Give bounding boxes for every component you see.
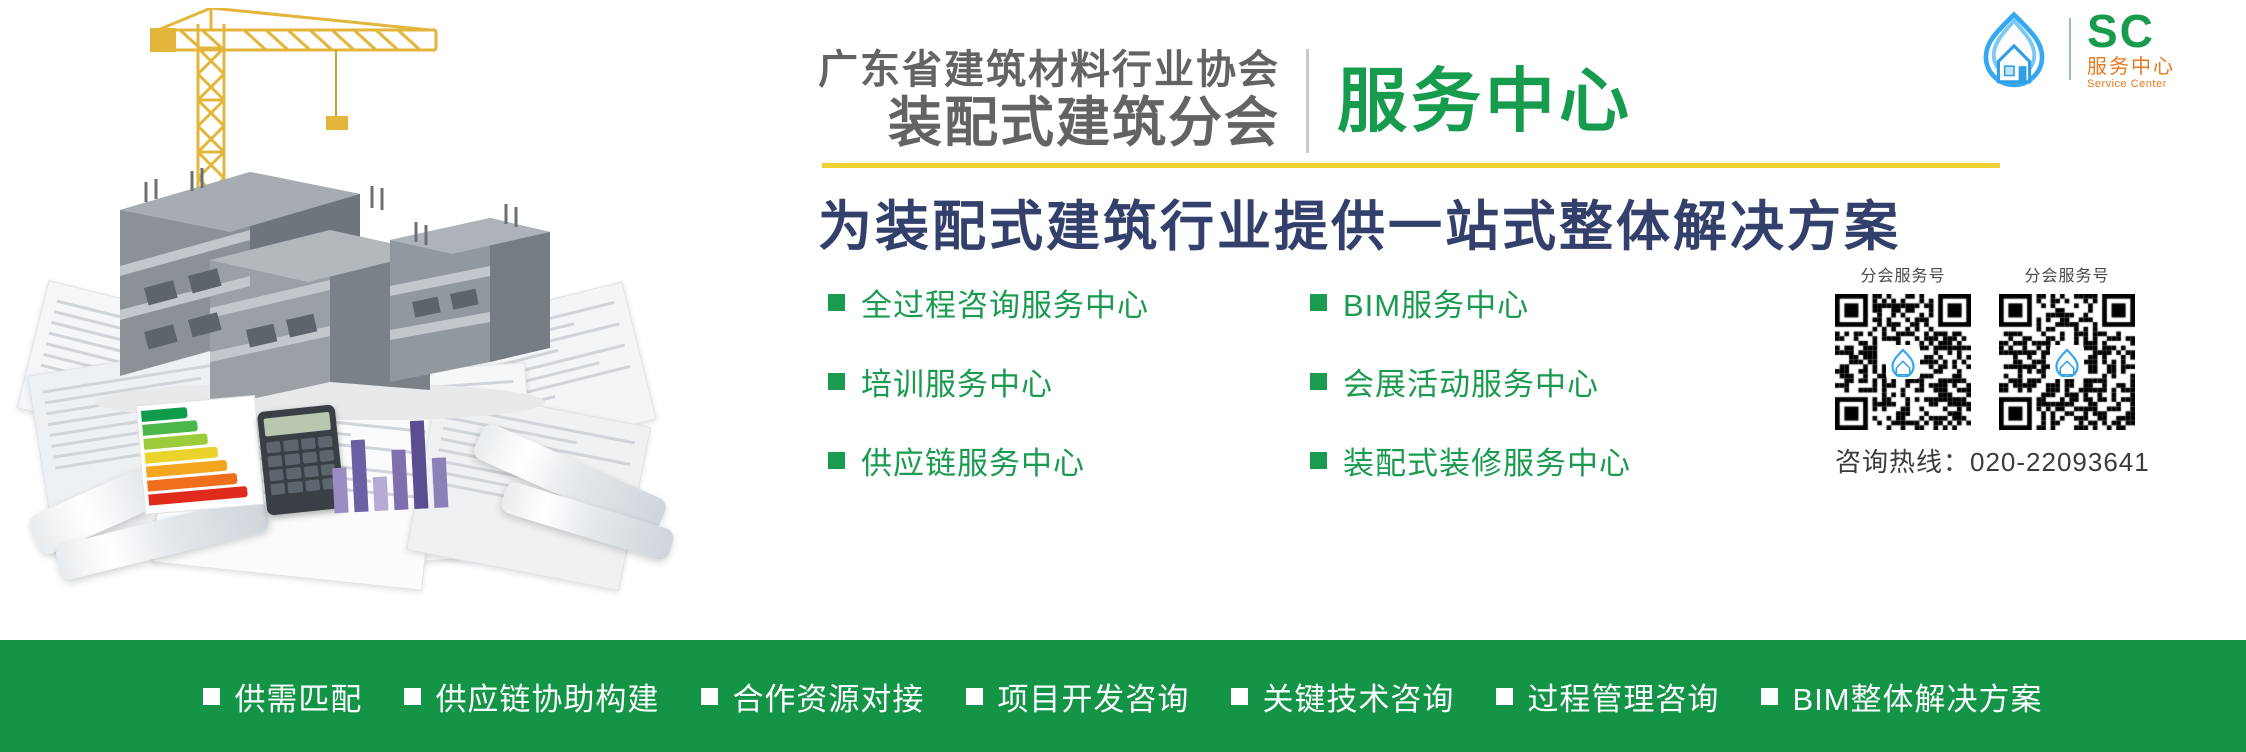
footer-label: 供需匹配 [234, 674, 362, 719]
page-title: 为装配式建筑行业提供一站式整体解决方案 [818, 182, 1901, 261]
sc-english-label: Service Center [2087, 79, 2175, 90]
qr-cell[interactable]: 分会服务号 [1999, 262, 2135, 430]
logo-divider [2069, 18, 2071, 80]
energy-rating-chart [135, 395, 264, 515]
service-label: 全过程咨询服务中心 [861, 280, 1149, 325]
qr-center-logo-icon [2050, 345, 2084, 379]
sc-service-center-logo: SC 服务中心 Service Center [1975, 8, 2175, 90]
list-item[interactable]: 会展活动服务中心 [1310, 355, 1710, 407]
footer-label: 合作资源对接 [732, 674, 924, 719]
footer-item[interactable]: 供应链协助构建 [404, 674, 659, 719]
precast-building-model-icon [60, 90, 580, 420]
service-center-list: 全过程咨询服务中心 培训服务中心 供应链服务中心 BIM服务中心 [710, 276, 1710, 513]
hotline-text: 咨询热线：020-22093641 [1835, 442, 2235, 479]
yellow-divider-rule [822, 163, 2000, 168]
square-bullet-icon [1310, 452, 1327, 469]
bar-chart-graphic [328, 412, 463, 514]
square-bullet-icon [1310, 294, 1327, 311]
list-item[interactable]: 供应链服务中心 [828, 434, 1228, 486]
list-item[interactable]: 装配式装修服务中心 [1310, 434, 1710, 486]
footer-item[interactable]: 过程管理咨询 [1496, 674, 1719, 719]
service-label: 培训服务中心 [861, 359, 1053, 404]
square-bullet-icon [1231, 688, 1248, 705]
association-name: 广东省建筑材料行业协会 [818, 48, 1280, 93]
square-bullet-icon [828, 452, 845, 469]
square-bullet-icon [404, 688, 421, 705]
square-bullet-icon [1761, 688, 1778, 705]
banner-content: SC 服务中心 Service Center 广东省建筑材料行业协会 装配式建筑… [700, 0, 2246, 640]
branch-name: 装配式建筑分会 [818, 93, 1280, 155]
organization-title-block: 广东省建筑材料行业协会 装配式建筑分会 服务中心 [818, 48, 1633, 154]
footer-item[interactable]: 关键技术咨询 [1231, 674, 1454, 719]
service-center-title: 服务中心 [1309, 66, 1633, 136]
square-bullet-icon [701, 688, 718, 705]
footer-label: 关键技术咨询 [1262, 674, 1454, 719]
qr-caption: 分会服务号 [1999, 262, 2135, 286]
footer-label: 项目开发咨询 [997, 674, 1189, 719]
qr-contact-block: 分会服务号 分会服务号 [1835, 262, 2235, 479]
qr-code-image[interactable] [1999, 294, 2135, 430]
service-label: 装配式装修服务中心 [1343, 438, 1631, 483]
service-label: 会展活动服务中心 [1343, 359, 1599, 404]
footer-item[interactable]: 合作资源对接 [701, 674, 924, 719]
square-bullet-icon [828, 294, 845, 311]
list-item[interactable]: 培训服务中心 [828, 355, 1228, 407]
footer-label: BIM整体解决方案 [1792, 674, 2042, 719]
flame-house-icon [1975, 10, 2053, 88]
qr-caption: 分会服务号 [1835, 262, 1971, 286]
hero-illustration [0, 0, 700, 640]
promotional-banner: SC 服务中心 Service Center 广东省建筑材料行业协会 装配式建筑… [0, 0, 2246, 752]
list-item[interactable]: BIM服务中心 [1310, 276, 1710, 328]
service-label: BIM服务中心 [1343, 280, 1529, 325]
square-bullet-icon [203, 688, 220, 705]
list-item[interactable]: 全过程咨询服务中心 [828, 276, 1228, 328]
footer-item[interactable]: 供需匹配 [203, 674, 362, 719]
service-list-left: 全过程咨询服务中心 培训服务中心 供应链服务中心 [828, 276, 1228, 513]
qr-center-logo-icon [1886, 345, 1920, 379]
square-bullet-icon [1310, 373, 1327, 390]
service-label: 供应链服务中心 [861, 438, 1085, 483]
qr-cell[interactable]: 分会服务号 [1835, 262, 1971, 430]
square-bullet-icon [966, 688, 983, 705]
footer-label: 供应链协助构建 [435, 674, 659, 719]
sc-letters: SC [2087, 8, 2175, 54]
footer-item[interactable]: 项目开发咨询 [966, 674, 1189, 719]
footer-item[interactable]: BIM整体解决方案 [1761, 674, 2042, 719]
square-bullet-icon [828, 373, 845, 390]
footer-service-bar: 供需匹配 供应链协助构建 合作资源对接 项目开发咨询 关键技术咨询 过程管理咨询 [0, 640, 2246, 752]
qr-code-image[interactable] [1835, 294, 1971, 430]
footer-label: 过程管理咨询 [1527, 674, 1719, 719]
square-bullet-icon [1496, 688, 1513, 705]
sc-chinese-label: 服务中心 [2087, 57, 2175, 77]
service-list-right: BIM服务中心 会展活动服务中心 装配式装修服务中心 [1310, 276, 1710, 513]
